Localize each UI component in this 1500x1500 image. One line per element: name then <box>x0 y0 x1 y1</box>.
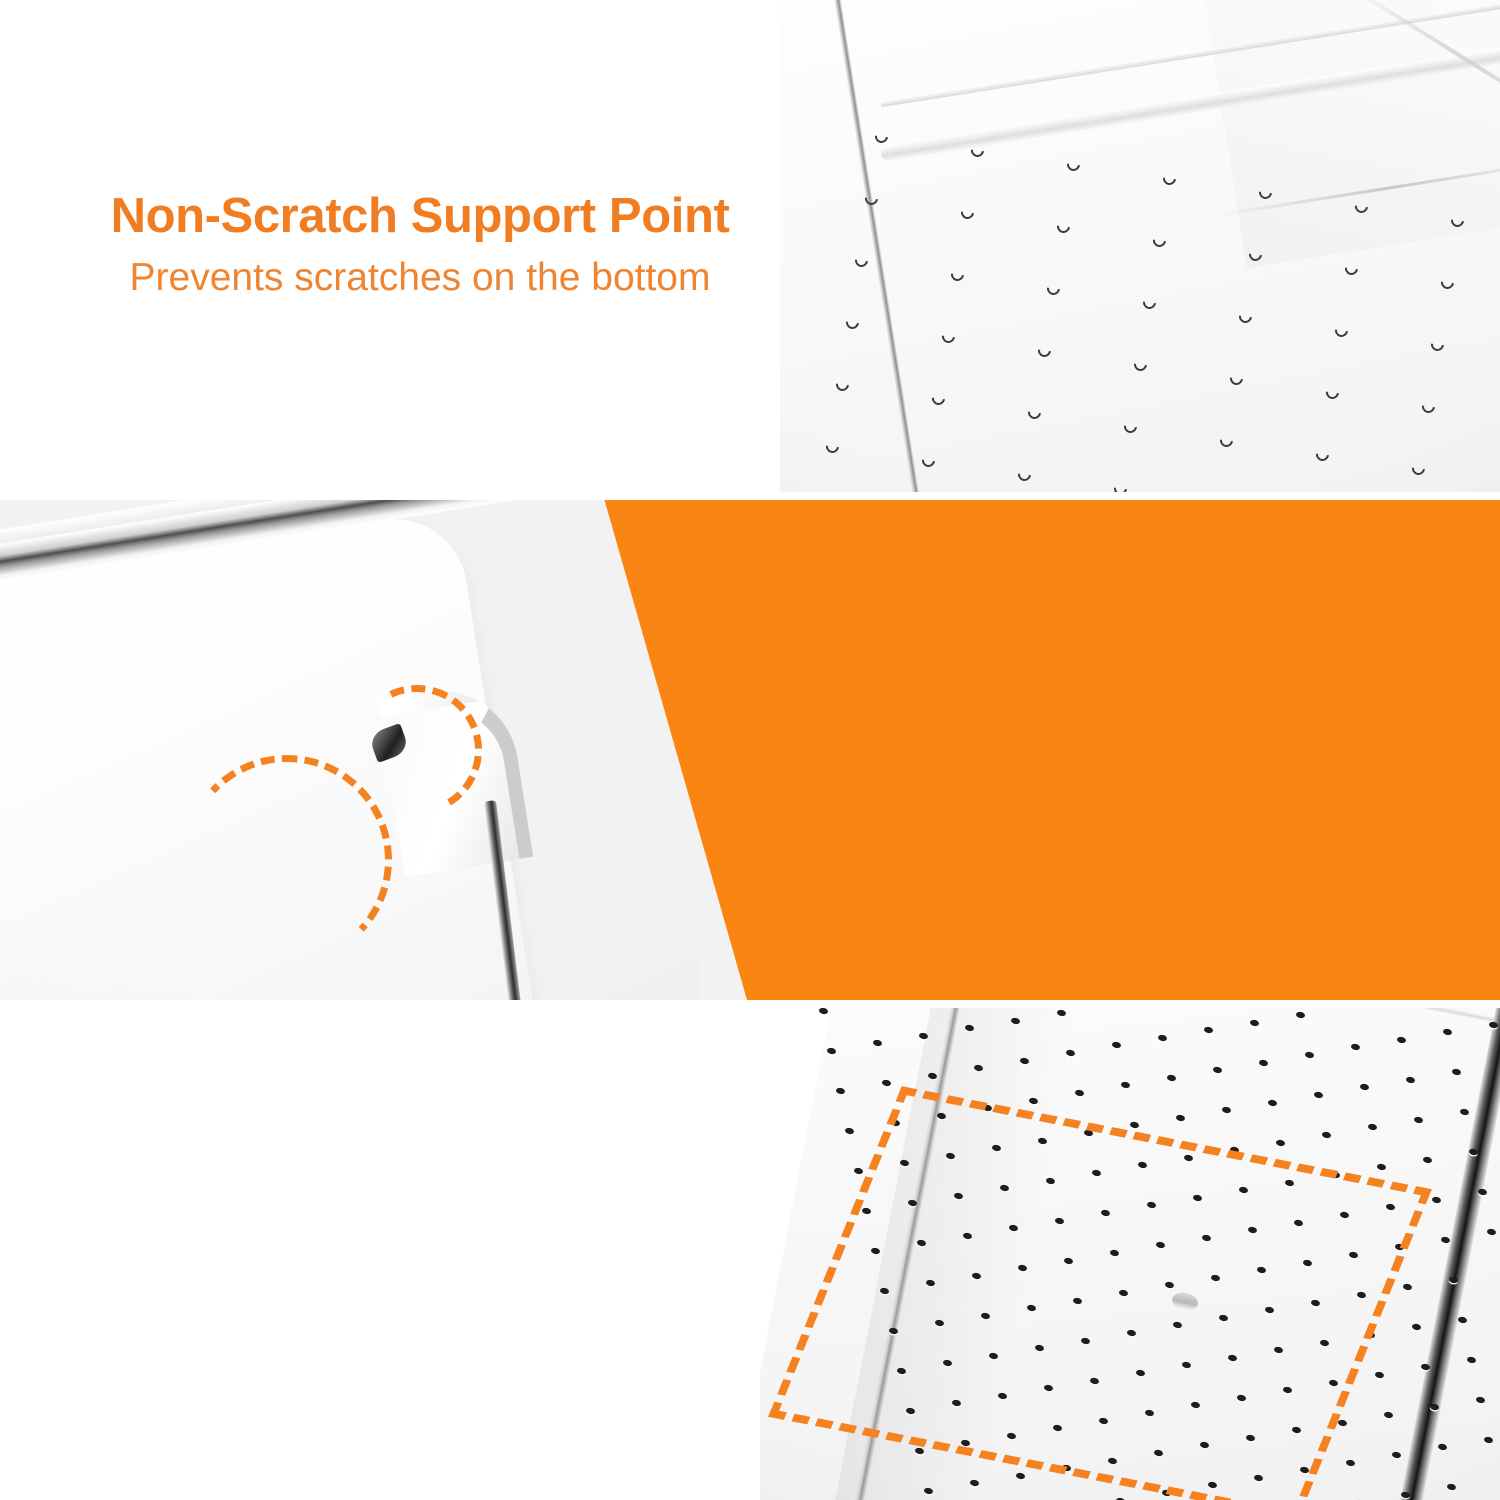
perforation-hole <box>914 1447 924 1455</box>
perforation-hole <box>1035 341 1053 359</box>
perforation-hole <box>843 313 861 331</box>
perforation-hole <box>949 265 967 283</box>
perforation-hole <box>1350 1044 1360 1052</box>
product-photo-tray-bottom <box>780 0 1500 492</box>
perforation-hole <box>818 1008 828 1015</box>
perforation-hole <box>1064 155 1082 173</box>
perforation-hole <box>1151 231 1169 249</box>
perforation-hole <box>1423 1156 1433 1164</box>
perforation-hole <box>1486 1228 1496 1236</box>
perforation-hole <box>1217 431 1235 449</box>
perforation-hole <box>1121 417 1139 435</box>
perforation-hole <box>1377 1164 1387 1172</box>
perforation-hole <box>939 327 957 345</box>
perforation-hole <box>1057 1009 1067 1017</box>
perforation-hole <box>827 1047 837 1055</box>
perforation-hole <box>1020 1057 1030 1065</box>
perforation-hole <box>919 1032 929 1040</box>
perforation-hole <box>1066 1049 1076 1057</box>
perforation-hole <box>1055 217 1073 235</box>
perforation-hole <box>1460 1108 1470 1116</box>
perforation-hole <box>1322 1131 1332 1139</box>
perforation-hole <box>1175 1114 1185 1122</box>
perforation-hole <box>1392 1451 1402 1459</box>
perforation-hole <box>968 141 986 159</box>
perforation-hole <box>1296 1011 1306 1019</box>
perforation-hole <box>928 1072 938 1080</box>
feature-panel-round-corner-design: Round Corner Design Will not scratch the… <box>0 500 1500 1000</box>
perforation-hole <box>1247 245 1265 263</box>
perforation-hole <box>1045 279 1063 297</box>
perforation-hole <box>1359 1084 1369 1092</box>
perforation-hole <box>1401 1491 1411 1499</box>
perforation-hole <box>1343 259 1361 277</box>
perforation-hole <box>1420 1364 1430 1372</box>
perforation-hole <box>872 127 890 145</box>
perforation-hole <box>1429 1404 1439 1412</box>
perforation-hole <box>1488 1021 1498 1029</box>
product-photo-round-corner <box>0 500 700 1000</box>
perforation-hole <box>1011 1017 1021 1025</box>
perforation-hole <box>1258 1059 1268 1067</box>
feature-subline-top: Prevents scratches on the bottom <box>0 257 840 300</box>
perforation-hole <box>1237 307 1255 325</box>
perforation-hole <box>1250 1019 1260 1027</box>
perforation-hole <box>1374 1371 1384 1379</box>
perforation-hole <box>1212 1066 1222 1074</box>
perforation-hole <box>844 1127 854 1135</box>
perforation-hole <box>1438 1444 1448 1452</box>
feature-headline-top: Non-Scratch Support Point <box>0 192 840 242</box>
perforation-hole <box>1131 355 1149 373</box>
perforation-hole <box>974 1064 984 1072</box>
perforation-hole <box>1458 1316 1468 1324</box>
perforation-hole <box>1484 1436 1494 1444</box>
perforation-hole <box>882 1080 892 1088</box>
perforation-hole <box>1015 1472 1025 1480</box>
perforation-hole <box>1429 335 1447 353</box>
perforation-hole <box>1352 197 1370 215</box>
perforation-hole <box>836 1087 846 1095</box>
perforation-hole <box>1304 1051 1314 1059</box>
perforation-hole <box>1276 1139 1286 1147</box>
perforation-hole <box>1204 1026 1214 1034</box>
perforation-hole <box>1313 1091 1323 1099</box>
perforation-hole <box>1141 293 1159 311</box>
perforation-hole <box>965 1024 975 1032</box>
perforation-hole <box>1449 1276 1459 1284</box>
perforation-hole <box>1412 1324 1422 1332</box>
perforation-hole <box>1383 1411 1393 1419</box>
perforation-hole <box>1015 465 1033 483</box>
perforation-hole <box>1431 1196 1441 1204</box>
perforation-hole <box>1346 1459 1356 1467</box>
perforation-hole <box>923 1487 933 1495</box>
perforation-hole <box>1440 1236 1450 1244</box>
perforation-hole <box>1111 479 1129 492</box>
feature-panel-non-scratch-support-point: Non-Scratch Support Point Prevents scrat… <box>0 0 1500 492</box>
perforation-hole <box>823 437 841 455</box>
perforation-hole <box>929 389 947 407</box>
perforation-hole <box>1447 1484 1457 1492</box>
perforation-hole <box>1166 1074 1176 1082</box>
perforation-hole <box>1405 1076 1415 1084</box>
perforation-hole <box>1129 1122 1139 1130</box>
perforation-hole <box>863 189 881 207</box>
perforation-hole <box>1120 1082 1130 1090</box>
perforation-hole <box>1403 1284 1413 1292</box>
perforation-hole <box>969 1480 979 1488</box>
perforation-hole <box>1160 169 1178 187</box>
perforation-hole <box>833 375 851 393</box>
perforation-hole <box>1112 1042 1122 1050</box>
perforation-hole <box>1256 183 1274 201</box>
perforation-hole <box>853 1167 863 1175</box>
perforation-hole <box>873 1040 883 1048</box>
perforation-hole <box>1409 459 1427 477</box>
product-photo-perforated-plate <box>760 1008 1500 1500</box>
infographic-board: Non-Scratch Support Point Prevents scrat… <box>0 0 1500 1500</box>
perforation-hole <box>1477 1188 1487 1196</box>
perforation-hole <box>1028 1097 1038 1105</box>
perforation-hole <box>1439 273 1457 291</box>
perforation-hole <box>1442 1028 1452 1036</box>
perforation-hole <box>1221 1106 1231 1114</box>
perforation-hole <box>959 203 977 221</box>
perforation-hole <box>919 451 937 469</box>
perforation-hole <box>1451 1068 1461 1076</box>
perforation-grid-top <box>780 0 1500 492</box>
perforation-hole <box>1323 383 1341 401</box>
perforation-hole <box>1333 321 1351 339</box>
perforation-hole <box>1466 1356 1476 1364</box>
feature-text-block-top: Non-Scratch Support Point Prevents scrat… <box>0 192 840 300</box>
perforation-hole <box>1025 403 1043 421</box>
perforation-hole <box>1414 1116 1424 1124</box>
perforation-hole <box>1227 369 1245 387</box>
perforation-hole <box>853 251 871 269</box>
perforation-hole <box>1368 1124 1378 1132</box>
perforation-hole <box>1419 397 1437 415</box>
perforation-hole <box>1469 1148 1479 1156</box>
perforation-hole <box>1074 1089 1084 1097</box>
perforation-hole <box>1267 1099 1277 1107</box>
perforation-hole <box>1396 1036 1406 1044</box>
perforation-hole <box>1448 211 1466 229</box>
perforation-hole <box>1475 1396 1485 1404</box>
perforation-hole <box>1313 445 1331 463</box>
perforation-hole <box>1158 1034 1168 1042</box>
